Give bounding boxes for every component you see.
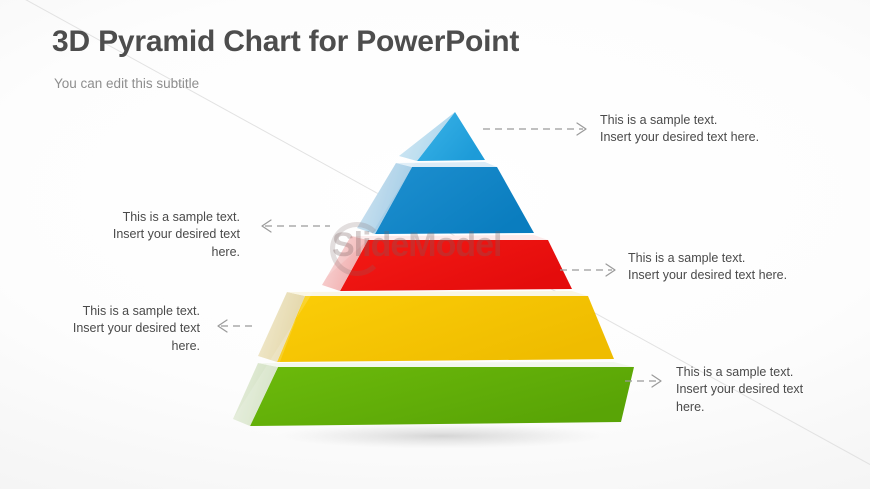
pyramid-level-4[interactable] <box>258 291 614 362</box>
level-3-side-face <box>322 236 368 291</box>
level-1-front-face <box>417 112 485 161</box>
level-2-front-face <box>375 167 534 234</box>
level-4-top-edge <box>287 291 588 296</box>
connector-level-5 <box>625 375 661 387</box>
level-4-front-face <box>277 296 614 362</box>
pyramid-level-5-base[interactable] <box>233 362 634 426</box>
level-5-side-face <box>233 363 278 426</box>
level-2-top-edge <box>396 162 497 167</box>
callout-level-5[interactable]: This is a sample text. Insert your desir… <box>676 364 846 416</box>
watermark-logo-icon <box>330 222 384 276</box>
pyramid-drop-shadow <box>277 423 607 449</box>
level-1-side-face <box>399 112 455 161</box>
pyramid-level-1-apex[interactable] <box>399 112 485 161</box>
level-3-top-edge <box>351 235 548 240</box>
pyramid-level-3[interactable] <box>322 235 572 291</box>
connector-level-1 <box>483 123 586 135</box>
page-title: 3D Pyramid Chart for PowerPoint <box>52 25 519 59</box>
connector-group <box>218 123 661 387</box>
slide-canvas: 3D Pyramid Chart for PowerPoint You can … <box>0 0 870 489</box>
connector-level-2 <box>262 220 330 232</box>
callout-level-2[interactable]: This is a sample text. Insert your desir… <box>88 209 240 261</box>
level-2-side-face <box>357 163 412 234</box>
connector-level-4 <box>218 320 256 332</box>
callout-level-1[interactable]: This is a sample text. Insert your desir… <box>600 112 850 147</box>
level-5-front-face <box>250 367 634 426</box>
pyramid-left-glass-overlay <box>233 112 455 426</box>
page-subtitle: You can edit this subtitle <box>54 76 199 91</box>
watermark-text: SlideModel <box>332 226 501 265</box>
level-5-top-edge <box>258 362 634 367</box>
connector-level-3 <box>560 264 615 276</box>
level-4-side-face <box>258 292 305 362</box>
level-3-front-face <box>340 240 572 291</box>
callout-level-3[interactable]: This is a sample text. Insert your desir… <box>628 250 858 285</box>
pyramid-level-2[interactable] <box>357 162 534 234</box>
callout-level-4[interactable]: This is a sample text. Insert your desir… <box>48 303 200 355</box>
